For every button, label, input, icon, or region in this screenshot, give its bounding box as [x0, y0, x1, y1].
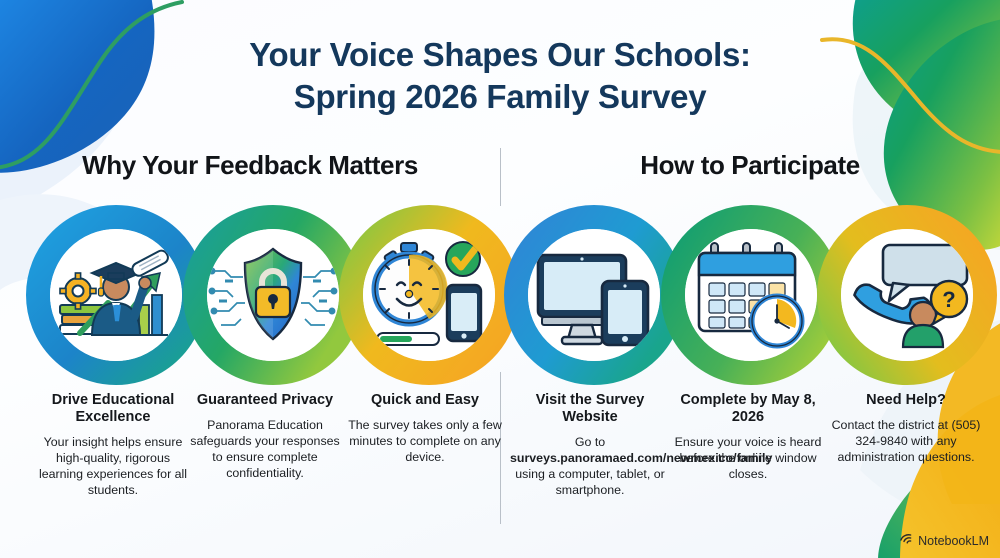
card-body-suffix: using a computer, tablet, or smartphone.	[515, 467, 664, 497]
card-body: Panorama Education safeguards your respo…	[185, 418, 345, 482]
card-title: Visit the Survey Website	[510, 392, 670, 426]
notebooklm-label: NotebookLM	[918, 534, 989, 548]
section-heading-how-to-participate: How to Participate	[520, 150, 980, 181]
card-title: Quick and Easy	[345, 392, 505, 409]
card-quick-and-easy: Quick and Easy The survey takes only a f…	[345, 392, 505, 466]
monitor-tablet-icon	[528, 229, 660, 361]
card-body: Contact the district at (505) 324-9840 w…	[826, 418, 986, 466]
calendar-clock-icon	[685, 229, 817, 361]
card-body-prefix: Go to	[575, 435, 605, 449]
shield-lock-icon	[207, 229, 339, 361]
title-line-1: Your Voice Shapes Our Schools:	[0, 34, 1000, 76]
card-guaranteed-privacy: Guaranteed Privacy Panorama Education sa…	[185, 392, 345, 482]
card-need-help: Need Help? Contact the district at (505)…	[826, 392, 986, 466]
card-visit-the-survey-website: Visit the Survey Website Go to surveys.p…	[510, 392, 670, 499]
card-title: Need Help?	[826, 392, 986, 409]
notebooklm-watermark: NotebookLM	[898, 532, 989, 550]
section-divider-top	[500, 148, 501, 206]
stopwatch-mobile-icon	[363, 229, 495, 361]
icon-circle-shield-lock	[182, 204, 364, 386]
card-drive-educational-excellence: Drive Educational Excellence Your insigh…	[33, 392, 193, 499]
graduation-growth-icon	[50, 229, 182, 361]
title-line-2: Spring 2026 Family Survey	[0, 76, 1000, 118]
card-title: Drive Educational Excellence	[33, 392, 193, 426]
notebooklm-spiral-icon	[898, 532, 913, 550]
icon-circle-need-help: ?	[816, 204, 998, 386]
card-body: Ensure your voice is heard before the on…	[668, 435, 828, 483]
icon-circle-quick-easy	[338, 204, 520, 386]
phone-support-icon: ?	[841, 229, 973, 361]
card-title: Complete by May 8, 2026	[668, 392, 828, 426]
card-complete-by-deadline: Complete by May 8, 2026 Ensure your voic…	[668, 392, 828, 483]
card-body: Go to surveys.panoramaed.com/newmexico/f…	[510, 435, 670, 499]
section-heading-why-feedback: Why Your Feedback Matters	[20, 150, 480, 181]
icon-circle-devices	[503, 204, 685, 386]
icon-circle-row: ?	[0, 204, 1000, 386]
icon-circle-graduation-growth	[25, 204, 207, 386]
card-body: Your insight helps ensure high-quality, …	[33, 435, 193, 499]
infographic-poster: Your Voice Shapes Our Schools: Spring 20…	[0, 0, 1000, 558]
poster-title: Your Voice Shapes Our Schools: Spring 20…	[0, 34, 1000, 118]
svg-text:?: ?	[942, 287, 955, 312]
icon-circle-calendar-deadline	[660, 204, 842, 386]
card-title: Guaranteed Privacy	[185, 392, 345, 409]
card-body: The survey takes only a few minutes to c…	[345, 418, 505, 466]
